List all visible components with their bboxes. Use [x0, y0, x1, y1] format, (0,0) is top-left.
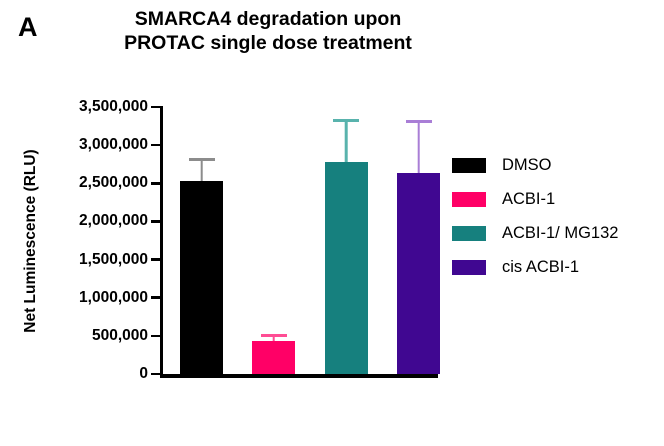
chart-title-line-2: PROTAC single dose treatment	[78, 32, 458, 56]
y-axis-tick-label: 2,500,000	[79, 175, 148, 191]
chart-title: SMARCA4 degradation upon PROTAC single d…	[78, 8, 458, 56]
y-axis-tick-label: 3,000,000	[79, 137, 148, 153]
legend-item-label: cis ACBI-1	[502, 259, 579, 276]
y-axis-tick	[151, 144, 160, 147]
legend-item[interactable]: ACBI-1	[452, 182, 618, 216]
x-axis-line	[160, 374, 438, 378]
error-bar	[200, 158, 203, 181]
bar-group	[252, 107, 295, 374]
y-axis-tick	[151, 182, 160, 185]
bar-group	[397, 107, 440, 374]
legend-swatch-icon	[452, 158, 486, 173]
legend-item[interactable]: DMSO	[452, 148, 618, 182]
y-axis-tick-label: 0	[139, 366, 148, 382]
y-axis-tick	[151, 258, 160, 261]
error-bar-cap	[261, 334, 287, 337]
y-axis-tick-label: 1,000,000	[79, 290, 148, 306]
legend-swatch-icon	[452, 226, 486, 241]
bar[interactable]	[325, 162, 368, 374]
y-axis-title: Net Luminescence (RLU)	[22, 149, 40, 332]
legend-swatch-icon	[452, 260, 486, 275]
chart-title-line-1: SMARCA4 degradation upon	[78, 8, 458, 32]
bar[interactable]	[397, 173, 440, 374]
y-axis-tick-label: 2,000,000	[79, 213, 148, 229]
error-bar	[345, 119, 348, 162]
bar[interactable]	[180, 181, 223, 374]
bar-series	[160, 107, 438, 374]
y-axis-tick-label: 500,000	[92, 328, 148, 344]
error-bar-cap	[333, 119, 359, 122]
legend-item-label: ACBI-1	[502, 191, 555, 208]
legend-item-label: DMSO	[502, 157, 552, 174]
legend-item[interactable]: ACBI-1/ MG132	[452, 216, 618, 250]
figure-panel-a: A SMARCA4 degradation upon PROTAC single…	[0, 0, 664, 446]
error-bar	[417, 120, 420, 173]
panel-letter: A	[18, 14, 38, 41]
chart-legend: DMSOACBI-1ACBI-1/ MG132cis ACBI-1	[452, 148, 618, 284]
legend-item[interactable]: cis ACBI-1	[452, 250, 618, 284]
plot-area: Net Luminescence (RLU) 0500,0001,000,000…	[160, 107, 438, 374]
y-axis-tick-label: 1,500,000	[79, 252, 148, 268]
y-axis-tick	[151, 296, 160, 299]
legend-item-label: ACBI-1/ MG132	[502, 225, 618, 242]
y-axis-tick	[151, 220, 160, 223]
bar-group	[325, 107, 368, 374]
bar-group	[180, 107, 223, 374]
y-axis-tick	[151, 373, 160, 376]
legend-swatch-icon	[452, 192, 486, 207]
error-bar-cap	[406, 120, 432, 123]
y-axis-tick-label: 3,500,000	[79, 99, 148, 115]
error-bar-cap	[189, 158, 215, 161]
bar[interactable]	[252, 341, 295, 374]
y-axis-tick	[151, 106, 160, 109]
y-axis-tick	[151, 335, 160, 338]
